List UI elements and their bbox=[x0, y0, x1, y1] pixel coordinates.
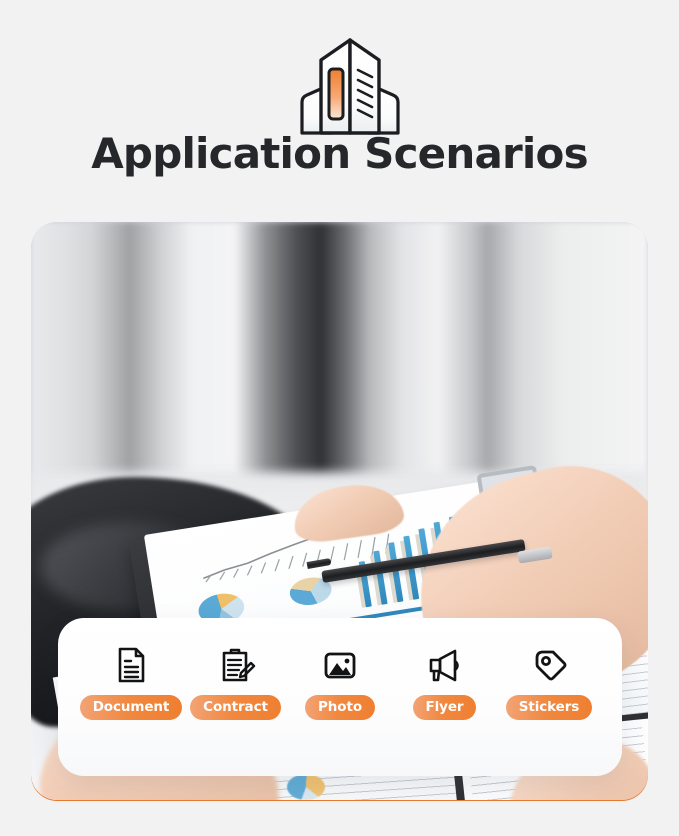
building-tower-icon bbox=[288, 34, 412, 138]
office-meeting-photo: Document Con bbox=[31, 222, 648, 800]
document-icon bbox=[110, 644, 152, 686]
category-card: Document Con bbox=[58, 618, 622, 776]
megaphone-icon bbox=[424, 644, 466, 686]
category-badge-contract[interactable]: Contract bbox=[190, 695, 281, 720]
category-badge-photo[interactable]: Photo bbox=[305, 695, 375, 720]
page-title: Application Scenarios bbox=[91, 128, 588, 180]
category-item-flyer[interactable]: Flyer bbox=[396, 644, 494, 720]
page-title-row: Application Scenarios bbox=[0, 128, 679, 180]
category-badge-document[interactable]: Document bbox=[80, 695, 183, 720]
photo-pie-chart bbox=[287, 774, 325, 800]
category-badge-stickers[interactable]: Stickers bbox=[506, 695, 592, 720]
category-item-photo[interactable]: Photo bbox=[291, 644, 389, 720]
category-item-document[interactable]: Document bbox=[82, 644, 180, 720]
clipboard-pencil-icon bbox=[215, 644, 257, 686]
category-badge-flyer[interactable]: Flyer bbox=[413, 695, 477, 720]
page-header: Application Scenarios bbox=[0, 0, 679, 212]
category-item-stickers[interactable]: Stickers bbox=[500, 644, 598, 720]
category-list: Document Con bbox=[58, 644, 622, 720]
image-icon bbox=[319, 644, 361, 686]
category-item-contract[interactable]: Contract bbox=[187, 644, 285, 720]
tag-icon bbox=[528, 644, 570, 686]
